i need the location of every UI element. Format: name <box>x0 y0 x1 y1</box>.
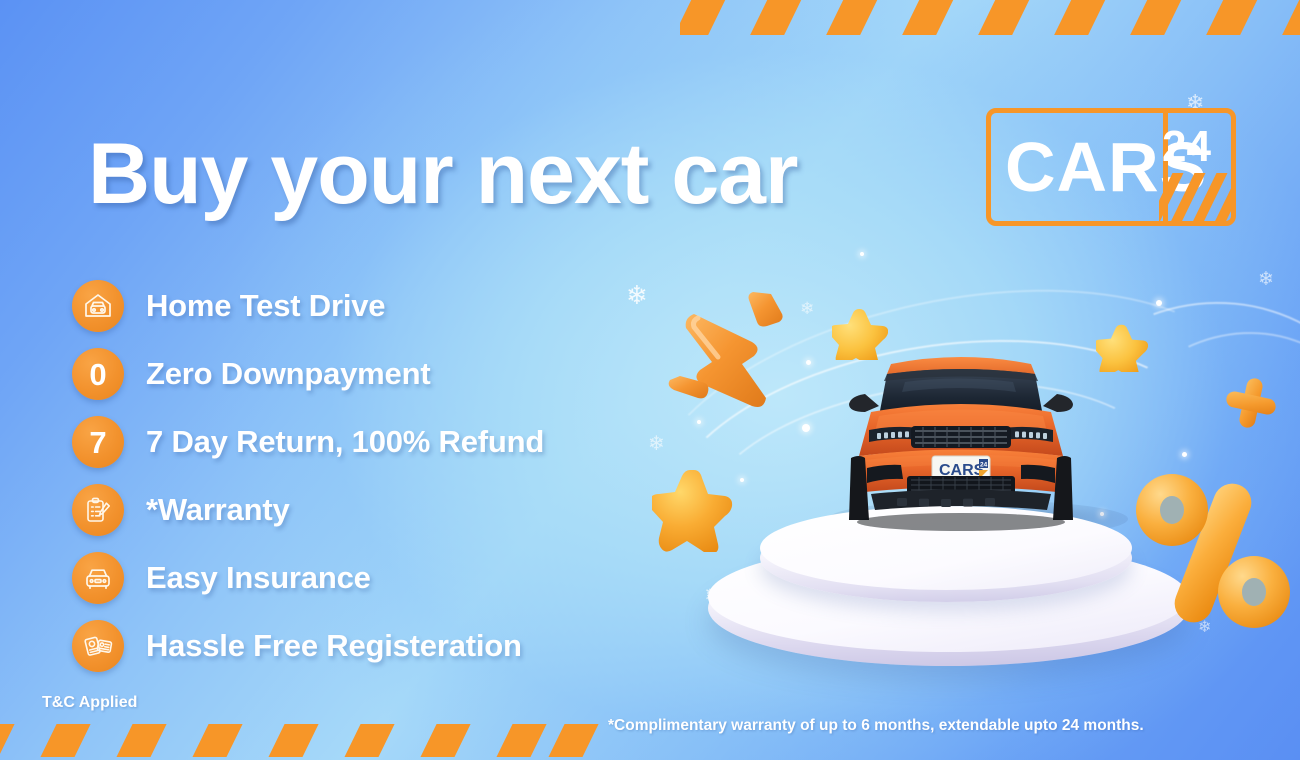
list-item: Easy Insurance <box>72 544 544 612</box>
car-front-icon <box>72 552 124 604</box>
svg-text:24: 24 <box>980 462 988 469</box>
percent-icon <box>1128 466 1300 634</box>
plus-icon <box>1220 372 1282 434</box>
snowflake-icon: ❄ <box>648 434 665 454</box>
list-item-label: 7 Day Return, 100% Refund <box>146 424 544 460</box>
list-item-label: Easy Insurance <box>146 560 371 596</box>
sparkle-dot-icon <box>860 252 864 256</box>
list-item: Hassle Free Registeration <box>72 612 544 680</box>
star-icon <box>832 306 888 360</box>
list-item: 0 Zero Downpayment <box>72 340 544 408</box>
bolt-fragment-icon <box>666 368 712 400</box>
badge-number: 0 <box>89 359 106 390</box>
list-item-label: Zero Downpayment <box>146 356 430 392</box>
sparkle-dot-icon <box>802 424 810 432</box>
home-car-icon <box>72 280 124 332</box>
list-item-label: Hassle Free Registeration <box>146 628 522 664</box>
orange-suv-image: CARS 24 <box>835 330 1087 545</box>
hazard-stripes-top <box>680 0 1300 38</box>
seven-icon: 7 <box>72 416 124 468</box>
clipboard-pencil-icon <box>72 484 124 536</box>
snowflake-icon: ❄ <box>800 300 814 317</box>
bolt-fragment-icon <box>741 288 785 330</box>
page-title: Buy your next car <box>88 131 797 217</box>
feature-list: Home Test Drive 0 Zero Downpayment 7 7 D… <box>72 272 544 680</box>
terms-note: T&C Applied <box>42 694 137 712</box>
sparkle-dot-icon <box>806 360 811 365</box>
badge-number: 7 <box>89 427 106 458</box>
warranty-disclaimer: *Complimentary warranty of up to 6 month… <box>608 717 1144 735</box>
logo-hazard-stripes <box>1159 173 1231 221</box>
zero-icon: 0 <box>72 348 124 400</box>
star-icon <box>652 466 734 552</box>
hazard-stripes-bottom <box>0 724 620 760</box>
sparkle-dot-icon <box>1182 452 1187 457</box>
sparkle-dot-icon <box>1156 300 1162 306</box>
star-icon <box>1096 322 1148 372</box>
logo-number: 24 <box>1162 125 1211 169</box>
promo-banner: ❄ ❄ ❄ ❄ ❄ ❄ ❄ Buy your next car CARS 24 <box>0 0 1300 760</box>
list-item: Home Test Drive <box>72 272 544 340</box>
list-item: 7 7 Day Return, 100% Refund <box>72 408 544 476</box>
list-item-label: *Warranty <box>146 492 289 528</box>
sparkle-dot-icon <box>697 420 701 424</box>
cars24-logo: CARS 24 <box>986 108 1236 226</box>
snowflake-icon: ❄ <box>626 282 648 308</box>
sparkle-dot-icon <box>740 478 744 482</box>
documents-icon <box>72 620 124 672</box>
snowflake-icon: ❄ <box>1258 270 1274 289</box>
list-item: *Warranty <box>72 476 544 544</box>
list-item-label: Home Test Drive <box>146 288 385 324</box>
